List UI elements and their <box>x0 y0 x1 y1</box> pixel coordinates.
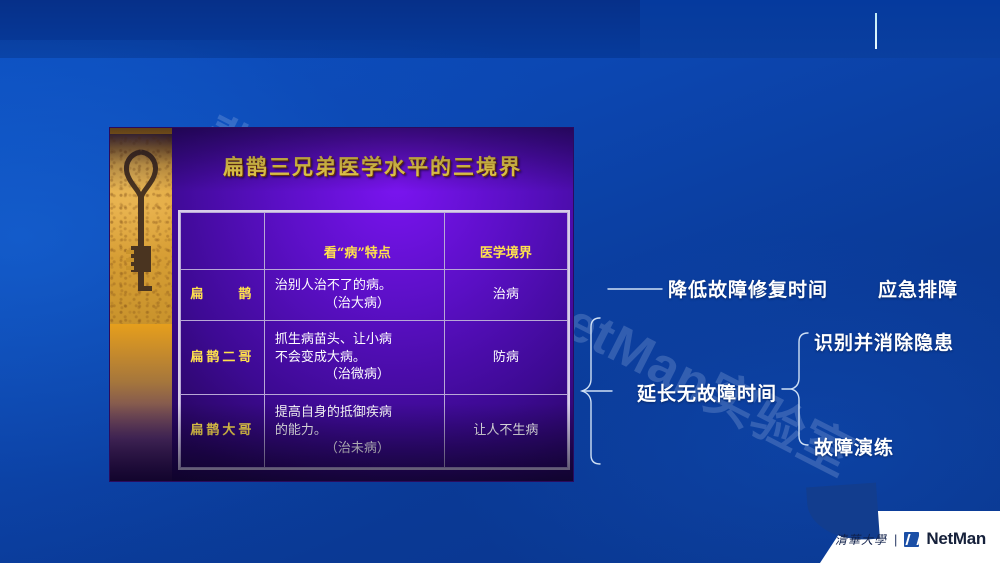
row-feature-line: 治别人治不了的病。 <box>275 277 440 295</box>
key-icon <box>118 142 164 310</box>
table-row: 扁鹊二哥 抓生病苗头、让小病 不会变成大病。 （治微病） 防病 <box>181 321 568 394</box>
node-reduce-repair-time: 降低故障修复时间 <box>668 275 828 302</box>
node-failure-drill: 故障演练 <box>814 433 894 460</box>
netman-logo-text: NetMan <box>926 529 986 549</box>
tsinghua-logo-text: 清華大學 <box>835 531 887 548</box>
row-feature: 提高自身的抵御疾病 的能力。 （治未病） <box>264 394 444 467</box>
row-level: 让人不生病 <box>444 394 567 467</box>
row-feature-line: 不会变成大病。 <box>275 349 440 367</box>
panel-title: 扁鹊三兄弟医学水平的三境界 <box>172 128 573 204</box>
panel-title-text: 扁鹊三兄弟医学水平的三境界 <box>223 151 522 181</box>
netman-mark-icon <box>904 532 919 547</box>
table-row: 扁鹊大哥 提高自身的抵御疾病 的能力。 （治未病） 让人不生病 <box>181 394 568 467</box>
slide-canvas: 裴丹@清华大学NetMan实验室 扁鹊三兄弟医学水平的三境界 <box>0 0 1000 563</box>
embedded-slide-panel: 扁鹊三兄弟医学水平的三境界 看“病”特点 医学境界 扁 鹊 治别人治不了的病。 … <box>110 128 573 481</box>
row-feature-line: （治未病） <box>275 440 440 458</box>
row-level: 防病 <box>444 321 567 394</box>
row-feature: 治别人治不了的病。 （治大病） <box>264 270 444 321</box>
table-header-cell-level: 医学境界 <box>444 213 567 270</box>
row-feature-line: 提高自身的抵御疾病 <box>275 404 440 422</box>
table-header-cell-feature: 看“病”特点 <box>264 213 444 270</box>
row-feature-line: 的能力。 <box>275 422 440 440</box>
row-name: 扁鹊二哥 <box>181 321 265 394</box>
node-extend-failure-free-time: 延长无故障时间 <box>637 379 777 406</box>
row-feature: 抓生病苗头、让小病 不会变成大病。 （治微病） <box>264 321 444 394</box>
table-row: 扁 鹊 治别人治不了的病。 （治大病） 治病 <box>181 270 568 321</box>
row-name: 扁鹊大哥 <box>181 394 265 467</box>
medical-levels-table: 看“病”特点 医学境界 扁 鹊 治别人治不了的病。 （治大病） 治病 扁鹊二哥 … <box>178 210 570 470</box>
background-top-band-right <box>640 0 1000 58</box>
logo-divider: | <box>894 532 897 547</box>
footer-logo: 清華大學 | NetMan <box>835 529 986 549</box>
node-identify-eliminate-hazards: 识别并消除隐患 <box>814 328 954 355</box>
row-feature-line: （治微病） <box>275 366 440 384</box>
row-name: 扁 鹊 <box>181 270 265 321</box>
table-header-cell-blank <box>181 213 265 270</box>
node-emergency-troubleshoot: 应急排障 <box>878 275 958 302</box>
accent-tick-mark <box>875 13 877 49</box>
row-feature-line: （治大病） <box>275 295 440 313</box>
table-header-row: 看“病”特点 医学境界 <box>181 213 568 270</box>
row-level: 治病 <box>444 270 567 321</box>
row-feature-line: 抓生病苗头、让小病 <box>275 331 440 349</box>
key-photo-strip <box>110 128 172 481</box>
